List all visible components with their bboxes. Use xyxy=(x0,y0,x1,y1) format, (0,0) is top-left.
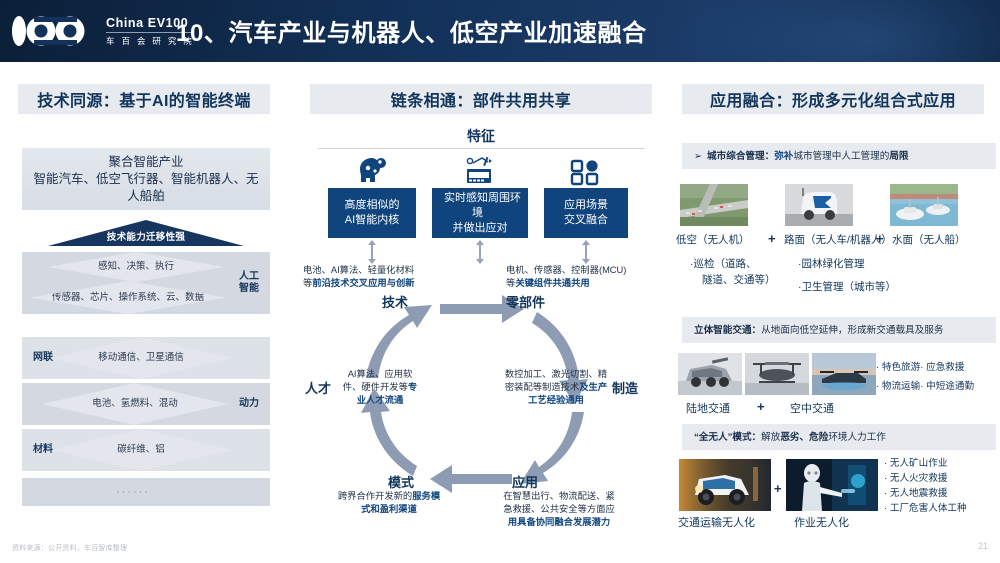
triangle-label: 技术能力迁移性强 xyxy=(107,229,185,246)
right-block1-bullets-col2: ·园林绿化管理 ·卫生管理（城市等） xyxy=(798,256,958,295)
right-block3-bullets: · 无人矿山作业 · 无人火灾救援 · 无人地震救援 · 工厂危害人体工种 xyxy=(884,456,967,516)
feature-box-ai-core: 高度相似的AI智能内核 xyxy=(328,188,416,238)
feature-perc-l2: 并做出应对 xyxy=(448,222,513,234)
cycle-desc-mode-plain: 跨界合作开发新的 xyxy=(338,491,412,501)
caption-air-transport: 空中交通 xyxy=(790,400,834,416)
right-column-heading: 应用融合：形成多元化组合式应用 xyxy=(682,84,984,114)
cycle-desc-app: 在智慧出行、物流配送、紧急救援、公共安全等方面应用具备协同融合发展潜力 xyxy=(503,490,615,529)
aggregated-industry-box: 聚合智能产业 智能汽车、低空飞行器、智能机器人、无 人船舶 xyxy=(22,148,270,210)
right-block3-bar: “全无人”模式：解放恶劣、危险环境人力工作 xyxy=(682,424,996,450)
layer-label-ai: 人工 智能 xyxy=(232,271,266,295)
ev100-logo-icon xyxy=(10,13,102,49)
plus-sign-2: + xyxy=(876,231,884,246)
brain-head-icon xyxy=(350,152,396,186)
mid-column-heading: 链条相通：部件共用共享 xyxy=(310,84,652,114)
feature-ai-l1: 高度相似的 xyxy=(340,199,405,211)
connector-arrow-scenario xyxy=(585,244,587,260)
caption-ground-transport: 陆地交通 xyxy=(686,400,730,416)
cycle-desc-parts: 电机、传感器、控制器(MCU)等关键组件共通共用 xyxy=(506,264,634,290)
diamond-text-hardware: 传感器、芯片、操作系统、云、数据 xyxy=(34,292,222,304)
plus-sign-1: + xyxy=(768,231,776,246)
humanoid-robot-worker-photo xyxy=(786,459,878,511)
right-block3-desc-bold: 恶劣、危险 xyxy=(780,431,828,444)
layer-ellipsis: ······ xyxy=(116,486,150,498)
page-title: 10、汽车产业与机器人、低空产业加速融合 xyxy=(176,13,647,48)
slide-header: China EV100 车 百 会 研 究 院 10、汽车产业与机器人、低空产业… xyxy=(0,0,1000,62)
water-drone-boat-photo xyxy=(890,184,958,226)
agg-line-3: 人船舶 xyxy=(127,189,165,203)
agg-line-1: 聚合智能产业 xyxy=(108,155,183,169)
aerial-highway-photo xyxy=(680,184,748,226)
right-block1-title: 城市综合管理： xyxy=(707,150,774,163)
layer-label-network: 网联 xyxy=(26,352,60,364)
unmanned-truck-photo xyxy=(679,459,771,511)
slide-root: China EV100 车 百 会 研 究 院 10、汽车产业与机器人、低空产业… xyxy=(0,0,1000,563)
right-block1-bar: ➢ 城市综合管理：弥补城市管理中人工管理的局限 xyxy=(682,143,996,169)
caption-low-altitude: 低空（无人机） xyxy=(676,232,750,247)
cycle-desc-talent-plain: AI算法、应用软件、硬件开发等 xyxy=(343,369,412,392)
cycle-desc-tech: 电池、AI算法、轻量化材料等前沿技术交叉应用与创新 xyxy=(303,264,421,290)
transferability-triangle: 技术能力迁移性强 xyxy=(48,220,244,246)
plus-sign-3: + xyxy=(757,399,765,414)
connector-arrow-ai xyxy=(371,244,373,260)
ground-vehicle-photo xyxy=(678,353,742,395)
right-block3-desc-tail: 环境人力工作 xyxy=(828,431,886,444)
right-block1-desc-mid: 城市管理中人工管理的 xyxy=(793,150,889,163)
plus-sign-4: + xyxy=(774,481,782,496)
layer-label-ai-l1: 人工 xyxy=(239,271,259,282)
right-block2-desc: 从地面向低空延伸，形成新交通载具及服务 xyxy=(761,324,943,337)
caption-water: 水面（无人船） xyxy=(892,232,966,247)
b3-bullet-1: · 无人矿山作业 xyxy=(884,458,947,469)
feature-ai-l2: AI智能内核 xyxy=(340,214,404,226)
caption-unmanned-operation: 作业无人化 xyxy=(794,514,849,530)
layer-label-ai-l2: 智能 xyxy=(239,283,259,294)
cycle-desc-app-bold: 用具备协同融合发展潜力 xyxy=(508,517,610,527)
feature-box-scenario: 应用场景交叉融合 xyxy=(544,188,628,238)
b2-bullet-1: · 特色旅游· 应急救援 xyxy=(876,362,964,373)
feature-perc-l1: 实时感知周围环境 xyxy=(439,192,521,219)
cycle-node-talent: 人才 xyxy=(305,378,331,397)
b2-bullet-2: · 物流运输· 中短途通勤 xyxy=(876,379,974,394)
cycle-node-mfg: 制造 xyxy=(612,378,638,397)
cycle-desc-mfg: 数控加工、激光切割、精密装配等制造技术及生产工艺经验通用 xyxy=(503,368,609,407)
b3-bullet-3: · 无人地震救援 xyxy=(884,488,947,499)
right-block2-bar: 立体智能交通：从地面向低空延伸，形成新交通载具及服务 xyxy=(682,317,996,343)
street-sweeper-robot-photo xyxy=(785,184,853,226)
right-block2-title: 立体智能交通： xyxy=(694,324,761,337)
b1-col1-line1: ·巡检（道路、 xyxy=(690,258,757,270)
cycle-desc-mode: 跨界合作开发新的服务模式和盈利渠道 xyxy=(334,490,444,516)
layer-label-power: 动力 xyxy=(232,398,266,410)
cycle-desc-app-plain: 在智慧出行、物流配送、紧急救援、公共安全等方面应 xyxy=(503,491,615,514)
b1-col2-line1: ·园林绿化管理 xyxy=(798,258,865,270)
diamond-text-comm: 移动通信、卫星通信 xyxy=(80,352,202,364)
right-block3-desc-plain: 解放 xyxy=(761,431,780,444)
b3-bullet-2: · 无人火灾救援 xyxy=(884,473,947,484)
right-block1-bullets-col1: ·巡检（道路、 隧道、交通等） xyxy=(690,256,780,288)
caption-unmanned-transport: 交通运输无人化 xyxy=(678,514,755,530)
diamond-text-perception: 感知、决策、执行 xyxy=(80,261,192,273)
left-column-heading: 技术同源：基于AI的智能终端 xyxy=(18,84,270,114)
connector-arrow-perception xyxy=(479,244,481,260)
brand-logo: China EV100 车 百 会 研 究 院 xyxy=(10,8,162,54)
cycle-desc-parts-bold: 关键组件共通共用 xyxy=(515,278,589,288)
b1-col1-line2: 隧道、交通等） xyxy=(702,272,776,288)
cycle-desc-talent: AI算法、应用软件、硬件开发等专业人才流通 xyxy=(340,368,420,407)
diamond-text-material: 碳纤维、铝 xyxy=(99,444,183,456)
source-note: 资料来源：公开资料，车百智库整理 xyxy=(12,543,127,553)
layer-label-material: 材料 xyxy=(26,444,60,456)
cycle-node-parts: 零部件 xyxy=(506,292,545,311)
right-block1-desc-bold: 局限 xyxy=(889,150,908,163)
sensor-perception-icon xyxy=(456,152,502,186)
feature-scen-l2: 交叉融合 xyxy=(559,214,613,226)
right-block3-title: “全无人”模式： xyxy=(694,431,761,444)
diamond-text-power: 电池、氢燃料、混动 xyxy=(74,398,196,410)
chevron-bullet-icon: ➢ xyxy=(694,150,702,163)
feature-box-perception: 实时感知周围环境并做出应对 xyxy=(432,188,528,238)
right-block1-desc-accent: 弥补 xyxy=(774,150,793,163)
evtol-aircraft-photo xyxy=(745,353,809,395)
flying-car-photo xyxy=(812,353,876,395)
app-grid-icon xyxy=(562,152,608,186)
page-number: 21 xyxy=(978,541,988,551)
cycle-node-app: 应用 xyxy=(512,472,538,491)
cycle-desc-tech-bold: 前沿技术交叉应用与创新 xyxy=(312,278,414,288)
right-block2-bullets: · 特色旅游· 应急救援 · 物流运输· 中短途通勤 xyxy=(876,360,974,394)
feature-section-title: 特征 xyxy=(310,126,652,146)
cycle-node-tech: 技术 xyxy=(382,292,408,311)
b3-bullet-4: · 工厂危害人体工种 xyxy=(884,503,967,514)
cycle-node-mode: 模式 xyxy=(388,472,414,491)
agg-line-2: 智能汽车、低空飞行器、智能机器人、无 xyxy=(33,172,258,186)
b1-col2-line2: ·卫生管理（城市等） xyxy=(798,279,896,295)
feature-divider xyxy=(318,148,644,149)
feature-scen-l1: 应用场景 xyxy=(559,199,613,211)
